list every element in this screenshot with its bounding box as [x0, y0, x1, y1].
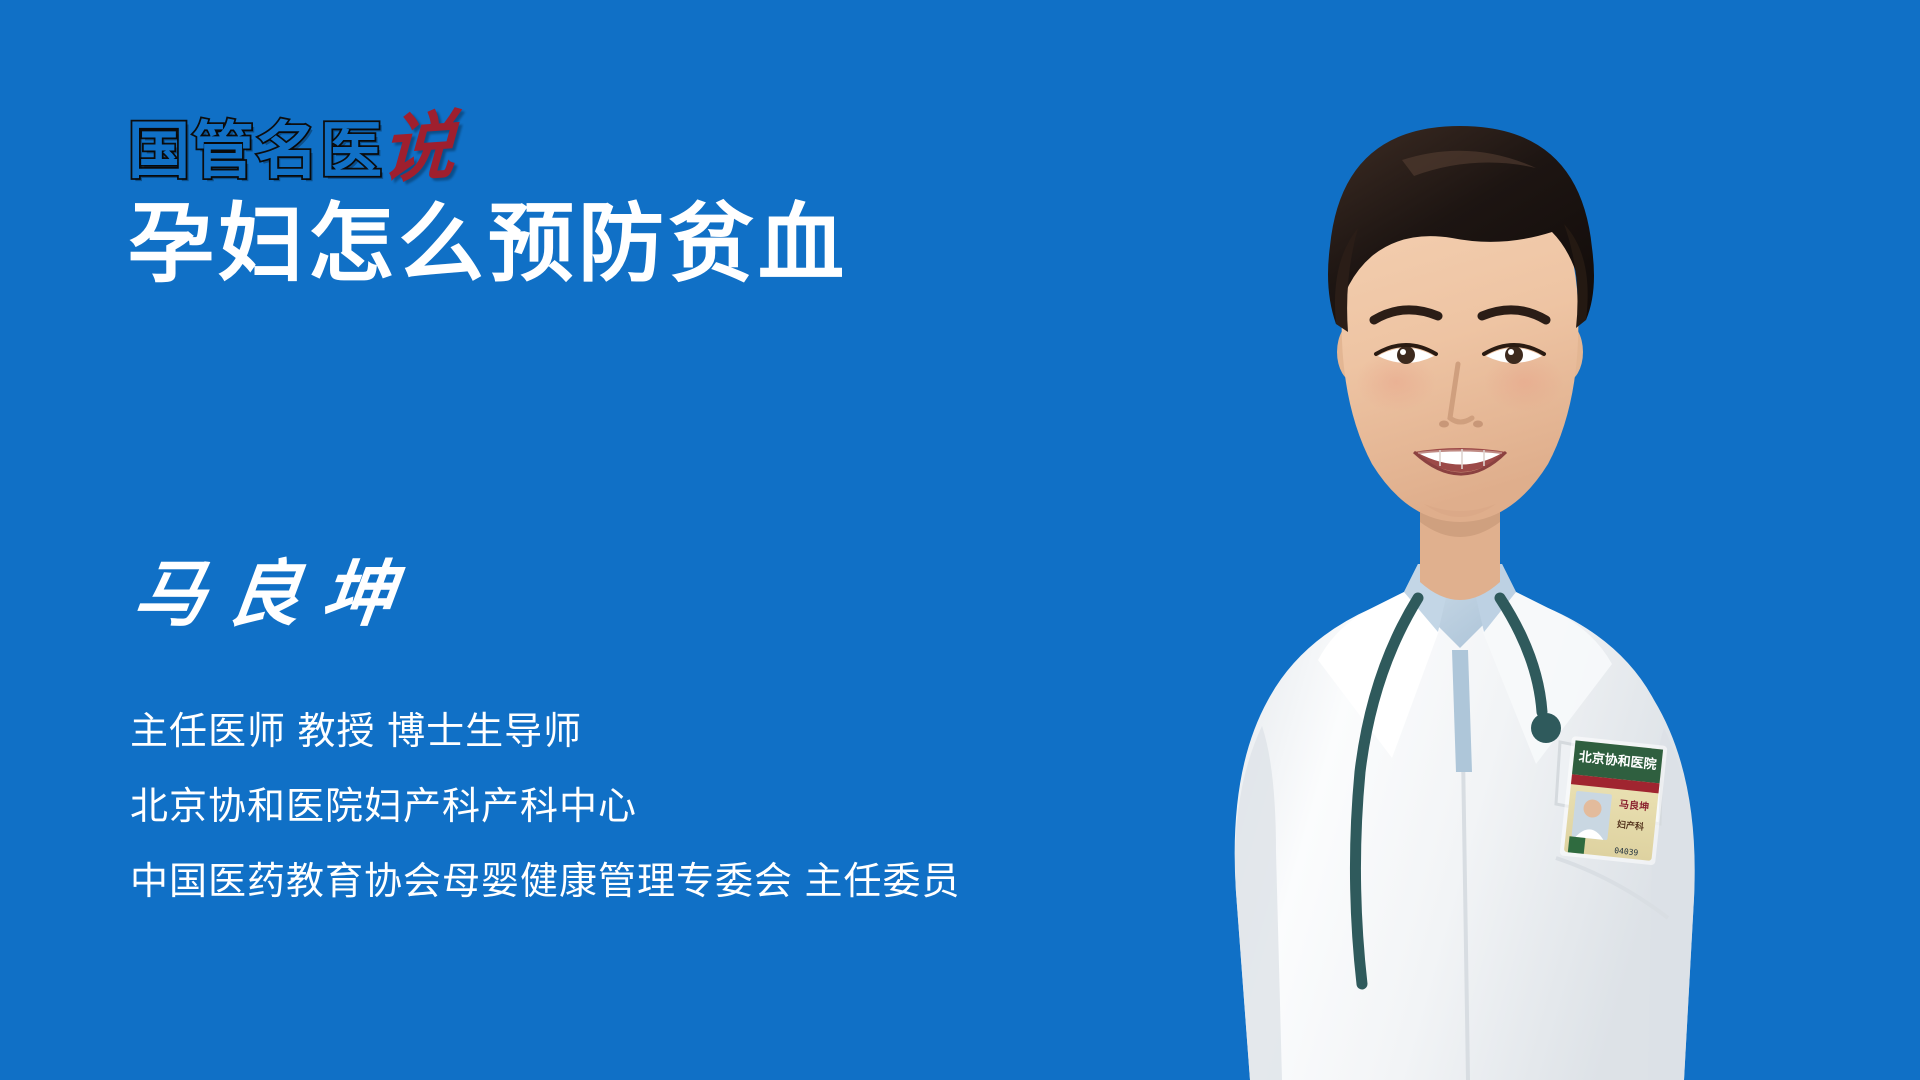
credential-line-1: 主任医师 教授 博士生导师: [130, 710, 961, 755]
badge-id-text: 04039: [1614, 846, 1639, 857]
badge-name-text: 马良坤: [1618, 797, 1649, 813]
doctor-head: [1328, 126, 1594, 522]
program-logo-outline-text: 国管名医: [128, 120, 384, 182]
page-title: 孕妇怎么预防贫血: [128, 198, 848, 291]
id-badge: 北京协和医院 马良坤 妇产科 04039: [1559, 736, 1667, 865]
program-logo-accent-text: 说: [380, 110, 456, 186]
mouth: [1414, 448, 1506, 474]
program-logo: 国管名医 说: [128, 86, 454, 182]
doctor-credentials: 主任医师 教授 博士生导师 北京协和医院妇产科产科中心 中国医药教育协会母婴健康…: [130, 710, 961, 904]
credential-line-3: 中国医药教育协会母婴健康管理专委会 主任委员: [130, 860, 961, 905]
doctor-portrait-photo: 北京协和医院 马良坤 妇产科 04039: [1000, 52, 1920, 1080]
credential-line-2: 北京协和医院妇产科产科中心: [130, 785, 961, 830]
doctor-coat: [1235, 592, 1695, 1080]
stethoscope-icon: [1355, 598, 1561, 984]
slide-canvas: 国管名医 说 孕妇怎么预防贫血 马良坤 主任医师 教授 博士生导师 北京协和医院…: [0, 0, 1920, 1080]
doctor-name: 马良坤: [130, 558, 421, 630]
doctor-neck: [1420, 482, 1500, 600]
badge-hospital-text: 北京协和医院: [1578, 749, 1657, 773]
badge-dept-text: 妇产科: [1615, 818, 1644, 833]
eyes: [1376, 345, 1544, 364]
shirt-collar: [1404, 564, 1516, 772]
